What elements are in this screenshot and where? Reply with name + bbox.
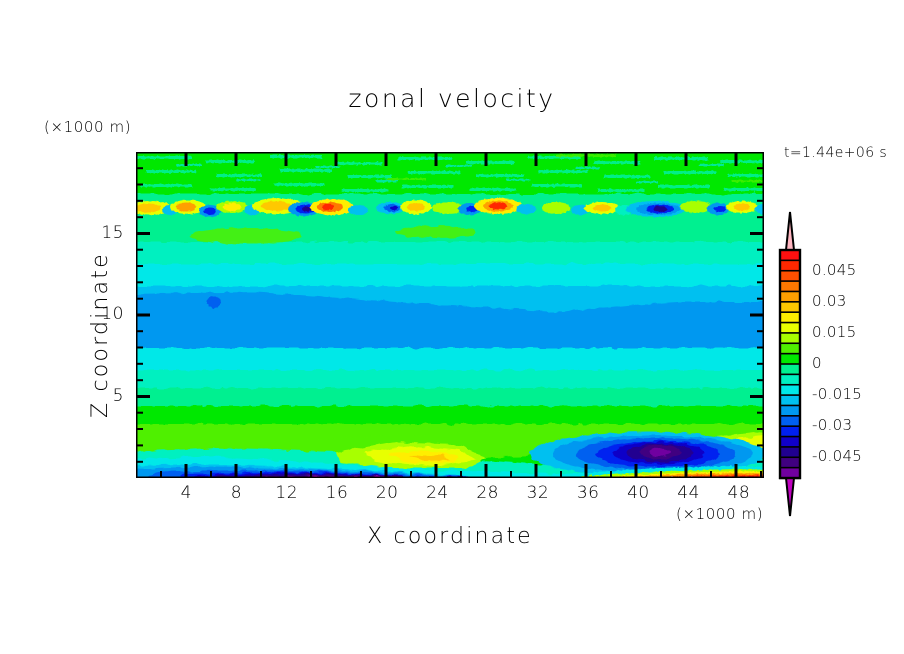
colorbar-tick-label: 0.015 [812, 323, 856, 341]
y-tick-label: 15 [84, 223, 124, 243]
colorbar-band [780, 250, 800, 261]
x-axis-units-label: (×1000 m) [676, 505, 763, 523]
colorbar-tick-label: 0.03 [812, 292, 847, 310]
colorbar-band [780, 354, 800, 365]
colorbar-tick-label: -0.015 [812, 385, 862, 403]
x-tick-label: 24 [417, 483, 457, 503]
x-tick-label: 8 [216, 483, 256, 503]
colorbar-band [780, 374, 800, 385]
colorbar-band [780, 468, 800, 479]
colorbar-band [780, 395, 800, 406]
x-tick-label: 40 [618, 483, 658, 503]
page-title: zonal velocity [0, 84, 904, 113]
colorbar-band [780, 457, 800, 468]
y-axis-units-label: (×1000 m) [44, 118, 131, 136]
colorbar-band [780, 385, 800, 396]
colorbar-bands [780, 250, 800, 478]
colorbar-tick-label: -0.03 [812, 416, 852, 434]
y-tick-label: 5 [84, 386, 124, 406]
x-tick-label: 4 [166, 483, 206, 503]
x-tick-label: 32 [518, 483, 558, 503]
x-axis-label: X coordinate [136, 524, 764, 549]
colorbar-band [780, 271, 800, 282]
colorbar-band [780, 323, 800, 334]
colorbar-band [780, 437, 800, 448]
colorbar-band [780, 333, 800, 344]
contour-plot [136, 152, 764, 478]
colorbar-band [780, 281, 800, 292]
colorbar-tick-label: -0.045 [812, 447, 862, 465]
x-tick-label: 28 [468, 483, 508, 503]
colorbar-band [780, 447, 800, 458]
colorbar-under-arrow [786, 478, 794, 516]
colorbar-band [780, 260, 800, 271]
colorbar-band [780, 405, 800, 416]
x-tick-label: 12 [267, 483, 307, 503]
colorbar-band [780, 426, 800, 437]
colorbar-band [780, 416, 800, 427]
colorbar-band [780, 343, 800, 354]
colorbar-band [780, 291, 800, 302]
x-tick-label: 44 [669, 483, 709, 503]
colorbar-band [780, 364, 800, 375]
colorbar-band [780, 302, 800, 313]
x-tick-label: 20 [367, 483, 407, 503]
x-tick-label: 48 [719, 483, 759, 503]
x-tick-label: 36 [568, 483, 608, 503]
time-annotation: t=1.44e+06 s [784, 145, 887, 161]
colorbar-tick-label: 0.045 [812, 261, 856, 279]
colorbar-tick-label: 0 [812, 354, 822, 372]
y-tick-label: 10 [84, 304, 124, 324]
colorbar-over-arrow [786, 212, 794, 250]
colorbar-band [780, 312, 800, 323]
figure-canvas: zonal velocity (×1000 m) t=1.44e+06 s [0, 0, 904, 654]
x-tick-label: 16 [317, 483, 357, 503]
